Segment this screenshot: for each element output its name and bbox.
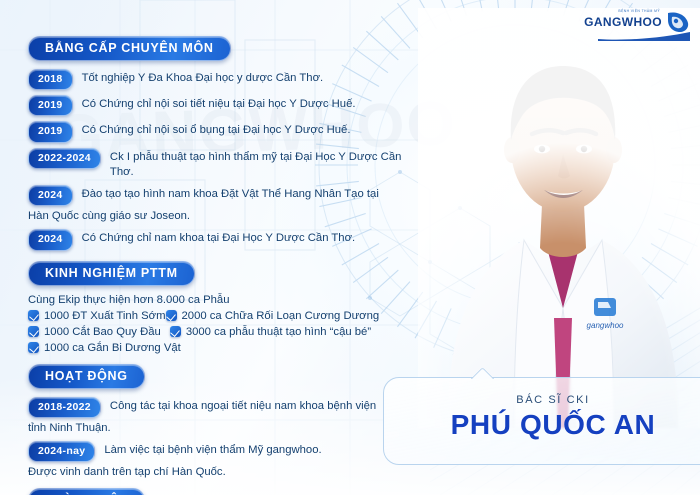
activity-row: 2018-2022 Công tác tại khoa ngoại tiết n…: [28, 397, 408, 418]
section-title-hoat-dong: HOẠT ĐỘNG: [28, 364, 145, 389]
activity-row: 2024-nay Làm việc tại bệnh viện thẩm Mỹ …: [28, 441, 408, 462]
year-badge: 2019: [28, 95, 73, 116]
credential-text: Có Chứng chỉ nội soi ổ bụng tại Đại học …: [82, 121, 351, 138]
credential-rows: 2018 Tốt nghiệp Y Đa Khoa Đại học y dược…: [28, 69, 408, 251]
year-badge: 2019: [28, 121, 73, 142]
credential-text: Ck I phẫu thuật tạo hình thẩm mỹ tại Đại…: [110, 148, 408, 181]
doctor-title: BÁC SĨ CKI: [384, 394, 700, 406]
bullet-item: 3000 ca phẫu thuật tạo hình “cậu bé”: [170, 326, 371, 338]
section-title-kinh-nghiem: KINH NGHIỆM PTTM: [28, 261, 195, 286]
activity-continuation: Được vinh danh trên tạp chí Hàn Quốc.: [28, 465, 408, 480]
check-badge-icon: [28, 326, 39, 337]
credential-row: 2022-2024 Ck I phẫu thuật tạo hình thẩm …: [28, 148, 408, 181]
section-bang-cap-chuyen-mon: BẰNG CẤP CHUYÊN MÔN 2018 Tốt nghiệp Y Đa…: [28, 36, 408, 251]
check-badge-icon: [170, 326, 181, 337]
activity-text: Công tác tại khoa ngoại tiết niệu nam kh…: [110, 397, 376, 414]
bullet-item: 1000 Cắt Bao Quy Đầu: [28, 326, 161, 338]
experience-lead-text: Cùng Ekip thực hiện hơn 8.000 ca Phẫu: [28, 294, 408, 306]
credential-row: 2018 Tốt nghiệp Y Đa Khoa Đại học y dược…: [28, 69, 408, 90]
doctor-name-card: BÁC SĨ CKI PHÚ QUỐC AN: [383, 377, 700, 465]
credential-row: 2024 Có Chứng chỉ nam khoa tại Đại Học Y…: [28, 229, 408, 250]
bullet-text: 3000 ca phẫu thuật tạo hình “cậu bé”: [186, 326, 371, 338]
experience-bullets: 1000 ĐT Xuất Tinh Sớm 2000 ca Chữa Rối L…: [28, 310, 408, 354]
logo-tagline: BỆNH VIỆN THẨM MỸ: [618, 9, 660, 13]
check-badge-icon: [166, 310, 177, 321]
doctor-portrait: gangwhoo: [418, 8, 700, 428]
activity-continuation: tỉnh Ninh Thuận.: [28, 421, 408, 436]
bullet-row: 1000 ca Gắn Bi Dương Vật: [28, 342, 408, 354]
credential-row: 2019 Có Chứng chỉ nội soi ổ bụng tại Đại…: [28, 121, 408, 142]
bullet-text: 1000 ĐT Xuất Tinh Sớm: [44, 310, 166, 322]
year-badge: 2024-nay: [28, 441, 95, 462]
gangwhoo-bird-mark-icon: [664, 10, 690, 34]
svg-text:gangwhoo: gangwhoo: [587, 321, 624, 330]
year-badge: 2018-2022: [28, 397, 101, 418]
logo-swoosh-icon: [598, 32, 690, 41]
bullet-text: 1000 Cắt Bao Quy Đầu: [44, 326, 161, 338]
name-card-pointer: [470, 365, 496, 379]
year-badge: 2024: [28, 229, 73, 250]
credential-continuation: Hàn Quốc cùng giáo sư Joseon.: [28, 209, 408, 224]
logo-wordmark: GANGWHOO: [584, 15, 662, 29]
doctor-profile-poster: GANGWHOO: [0, 0, 700, 495]
bullet-text: 2000 ca Chữa Rối Loạn Cương Dương: [182, 310, 380, 322]
credential-text: Tốt nghiệp Y Đa Khoa Đại học y dược Cần …: [82, 69, 324, 86]
bullet-item: 1000 ĐT Xuất Tinh Sớm: [28, 310, 166, 322]
bullet-text: 1000 ca Gắn Bi Dương Vật: [44, 342, 181, 354]
bullet-row: 1000 ĐT Xuất Tinh Sớm 2000 ca Chữa Rối L…: [28, 310, 408, 322]
bullet-row: 1000 Cắt Bao Quy Đầu 3000 ca phẫu thuật …: [28, 326, 408, 338]
bullet-item: 1000 ca Gắn Bi Dương Vật: [28, 342, 181, 354]
credential-text: Có Chứng chỉ nam khoa tại Đại Học Y Dược…: [82, 229, 356, 246]
profile-content: BẰNG CẤP CHUYÊN MÔN 2018 Tốt nghiệp Y Đa…: [28, 36, 408, 495]
section-title-bang-cap: BẰNG CẤP CHUYÊN MÔN: [28, 36, 231, 61]
section-kinh-nghiem-pttm: KINH NGHIỆM PTTM Cùng Ekip thực hiện hơn…: [28, 261, 408, 354]
year-badge: 2024: [28, 185, 73, 206]
check-badge-icon: [28, 342, 39, 353]
activity-text: Làm việc tại bệnh viện thẩm Mỹ gangwhoo.: [104, 441, 321, 458]
section-hoat-dong: HOẠT ĐỘNG 2018-2022 Công tác tại khoa ng…: [28, 364, 408, 481]
year-badge: 2018: [28, 69, 73, 90]
year-badge: 2022-2024: [28, 148, 101, 169]
doctor-name: PHÚ QUỐC AN: [384, 409, 700, 441]
gangwhoo-logo: BỆNH VIỆN THẨM MỸ GANGWHOO: [584, 8, 690, 42]
section-title-thanh-vien: THÀNH VIÊN: [28, 488, 145, 495]
credential-text: Đào tạo tạo hình nam khoa Đặt Vật Thể Ha…: [82, 185, 379, 202]
bullet-item: 2000 ca Chữa Rối Loạn Cương Dương: [166, 310, 380, 322]
credential-row: 2019 Có Chứng chỉ nội soi tiết niệu tại …: [28, 95, 408, 116]
credential-text: Có Chứng chỉ nội soi tiết niệu tại Đại h…: [82, 95, 356, 112]
section-thanh-vien: THÀNH VIÊN Thành viên Hội Phẫu Thuật Thẩ…: [28, 488, 408, 495]
credential-row: 2024 Đào tạo tạo hình nam khoa Đặt Vật T…: [28, 185, 408, 206]
activity-rows: 2018-2022 Công tác tại khoa ngoại tiết n…: [28, 397, 408, 481]
check-badge-icon: [28, 310, 39, 321]
